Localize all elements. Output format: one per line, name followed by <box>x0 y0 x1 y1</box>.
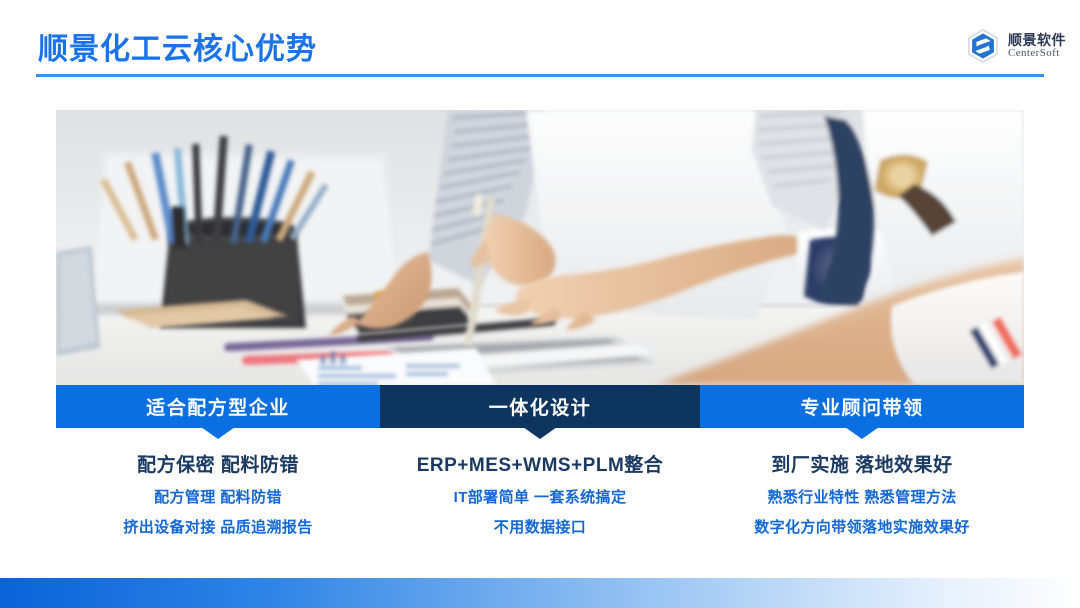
banner-notch-icon-3 <box>845 427 879 439</box>
banner-column-1[interactable]: 适合配方型企业 <box>56 385 380 428</box>
column-1-heading: 配方保密 配料防错 <box>137 450 299 477</box>
title-divider <box>36 74 1044 77</box>
page-title: 顺景化工云核心优势 <box>38 24 317 68</box>
hero-photo-illustration <box>56 110 1024 385</box>
logo-text-block: 顺景软件 CenterSoft <box>1008 33 1066 59</box>
footer-gradient-bar <box>0 578 1080 608</box>
column-3: 到厂实施 落地效果好 熟悉行业特性 熟悉管理方法 数字化方向带领落地实施效果好 <box>700 450 1024 537</box>
slide-root: 顺景化工云核心优势 顺景软件 CenterSoft <box>0 0 1080 608</box>
column-1: 配方保密 配料防错 配方管理 配料防错 挤出设备对接 品质追溯报告 <box>56 450 380 537</box>
banner-column-3[interactable]: 专业顾问带领 <box>700 385 1024 428</box>
column-1-line-1: 配方管理 配料防错 <box>154 486 282 507</box>
banner-label-3: 专业顾问带领 <box>800 393 923 420</box>
hero-photo <box>56 110 1024 385</box>
brand-logo: 顺景软件 CenterSoft <box>965 28 1066 64</box>
hexagon-s-logo-icon <box>965 28 1001 64</box>
column-3-heading: 到厂实施 落地效果好 <box>771 450 952 477</box>
banner-label-2: 一体化设计 <box>489 393 592 420</box>
column-1-line-2: 挤出设备对接 品质追溯报告 <box>123 516 312 537</box>
banner-notch-icon-1 <box>201 427 235 439</box>
column-2-line-2: 不用数据接口 <box>494 516 586 537</box>
logo-name-cn: 顺景软件 <box>1008 33 1066 48</box>
column-2-heading: ERP+MES+WMS+PLM整合 <box>417 450 664 477</box>
column-3-line-1: 熟悉行业特性 熟悉管理方法 <box>767 486 956 507</box>
column-2-line-1: IT部署简单 一套系统搞定 <box>454 486 627 507</box>
banner-strip: 适合配方型企业 一体化设计 专业顾问带领 <box>56 385 1024 428</box>
column-2: ERP+MES+WMS+PLM整合 IT部署简单 一套系统搞定 不用数据接口 <box>380 450 700 537</box>
banner-notch-icon-2 <box>523 427 557 439</box>
banner-column-2[interactable]: 一体化设计 <box>380 385 700 428</box>
banner-label-1: 适合配方型企业 <box>146 393 290 420</box>
logo-name-en: CenterSoft <box>1008 48 1066 60</box>
columns-container: 配方保密 配料防错 配方管理 配料防错 挤出设备对接 品质追溯报告 ERP+ME… <box>56 450 1024 537</box>
column-3-line-2: 数字化方向带领落地实施效果好 <box>754 516 970 537</box>
